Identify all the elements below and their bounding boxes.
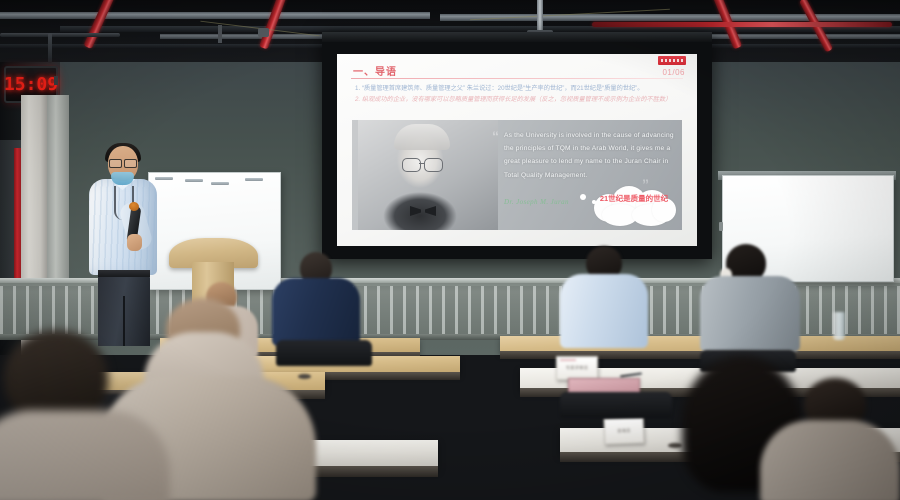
attendee-torso bbox=[560, 274, 648, 348]
attendee-torso bbox=[760, 420, 900, 500]
whiteboard-clip bbox=[211, 182, 229, 185]
conduit-pipe bbox=[48, 33, 52, 63]
attendee-torso bbox=[700, 276, 800, 352]
slide-bullet-list: 1. “质量管理首席建筑师、质量管理之父” 朱兰说过：20世纪是“生产率的世纪”… bbox=[355, 83, 683, 106]
slide-bullet: 1. “质量管理首席建筑师、质量管理之父” 朱兰说过：20世纪是“生产率的世纪”… bbox=[355, 83, 683, 94]
quote-open-mark: “ bbox=[492, 128, 499, 144]
slide-title: 一、导语 bbox=[353, 63, 397, 78]
whiteboard-hinge bbox=[719, 222, 723, 231]
ceiling-fixture bbox=[258, 28, 269, 37]
clock-time-text: 15:09 bbox=[4, 74, 58, 95]
slide-callout-cloud: 21世纪是质量的世纪 bbox=[592, 184, 676, 226]
presentation-slide: 一、导语 01/06 1. “质量管理首席建筑师、质量管理之父” 朱兰说过：20… bbox=[337, 54, 697, 246]
portrait-bowtie bbox=[410, 206, 436, 216]
whiteboard-clip bbox=[245, 178, 263, 181]
sprinkler-pipe-main bbox=[592, 22, 892, 27]
slide-quote-text: As the University is involved in the cau… bbox=[504, 129, 676, 182]
attendee-right-edge bbox=[760, 378, 900, 500]
slide-callout-text: 21世纪是质量的世纪 bbox=[592, 193, 676, 204]
attendee-torso bbox=[0, 410, 170, 500]
ceiling-duct bbox=[0, 12, 430, 19]
clock-mount bbox=[54, 76, 58, 85]
placard-text: 咨询员 bbox=[617, 428, 631, 434]
whiteboard-clip bbox=[185, 179, 203, 182]
slide-page-indicator: 01/06 bbox=[662, 68, 685, 77]
cloud-bubble-dot bbox=[580, 194, 586, 200]
juran-portrait-icon bbox=[358, 120, 498, 230]
slide-signature-text: Dr. Joseph M. Juran bbox=[504, 198, 569, 206]
attendee-lightblue-shirt bbox=[560, 246, 648, 346]
lecture-hall-photo: 15:09 一、导语 01/06 1. “质量管理首席建筑师、质量管理之父” 朱… bbox=[0, 0, 900, 500]
brand-logo-icon bbox=[658, 56, 686, 65]
attendee-foreground-left bbox=[0, 330, 170, 500]
screen-roller-bar bbox=[322, 32, 712, 42]
attendee-grey-shirt bbox=[700, 244, 800, 350]
water-bottle bbox=[833, 312, 845, 340]
slide-image-panel: “ As the University is involved in the c… bbox=[352, 120, 682, 230]
projector-mount-pole bbox=[537, 0, 543, 34]
slide-bullet: 2. 纵观成功的企业，没有哪家可以忽略质量管理而获得长足的发展（反之，忽视质量管… bbox=[355, 94, 683, 105]
portrait-hair bbox=[394, 124, 450, 150]
presenter-belt bbox=[98, 270, 150, 277]
name-placard-front: 专家评审员 bbox=[556, 356, 598, 380]
portrait-glasses-bridge bbox=[419, 163, 424, 164]
conduit-pipe bbox=[0, 33, 120, 37]
portrait-glasses-right bbox=[424, 158, 443, 172]
portrait-glasses-left bbox=[402, 158, 421, 172]
presenter-face-mask bbox=[111, 172, 134, 185]
slide-title-rule bbox=[351, 78, 683, 79]
placard-text: 专家评审员 bbox=[566, 365, 588, 371]
presenter-glasses bbox=[109, 159, 137, 166]
presenter-hand bbox=[127, 234, 142, 251]
ceiling-hanger bbox=[218, 25, 222, 43]
placard-accent-bar bbox=[560, 359, 576, 361]
